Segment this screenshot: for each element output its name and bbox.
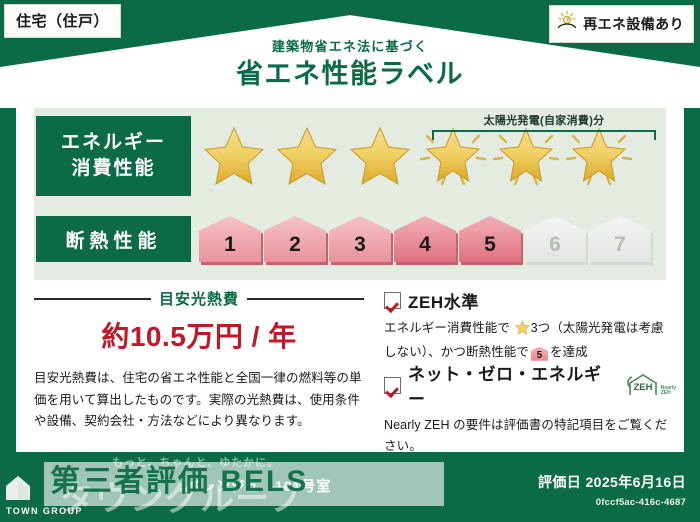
insulation-badge-5: 5 bbox=[459, 216, 521, 262]
renewable-equipment-badge: 再エネ設備あり bbox=[549, 5, 694, 43]
label-footer: ベレンジュ 101号室 評価日 2025年6月16日 0fccf5ac-416c… bbox=[0, 454, 700, 522]
star-2 bbox=[270, 116, 343, 196]
divider-left bbox=[34, 298, 151, 300]
energy-label-line2: 消費性能 bbox=[71, 156, 155, 182]
bracket-line bbox=[432, 130, 656, 140]
star-3 bbox=[343, 116, 416, 196]
insulation-badge-2: 2 bbox=[264, 216, 326, 262]
net-zero-description: Nearly ZEH の要件は評価書の特記項目をご覧ください。 bbox=[384, 415, 676, 457]
zeh-desc-part1: エネルギー消費性能で bbox=[384, 321, 510, 335]
zeh-standard-block: ZEH水準 エネルギー消費性能で 3つ（太陽光発電は考慮しない）、かつ断熱性能で… bbox=[384, 288, 676, 363]
insulation-badge-6: 6 bbox=[524, 216, 586, 262]
insulation-badge-3: 3 bbox=[329, 216, 391, 262]
sun-icon bbox=[556, 10, 578, 37]
renewable-badge-label: 再エネ設備あり bbox=[583, 14, 684, 34]
zeh-house-logo: ZEH Nearly ZEH bbox=[626, 373, 676, 397]
insulation-badge-7: 7 bbox=[589, 216, 651, 262]
checkbox-checked-icon bbox=[384, 377, 401, 394]
cost-heading: 目安光熱費 bbox=[159, 288, 239, 309]
energy-label-line1: エネルギー bbox=[61, 130, 166, 156]
cost-heading-row: 目安光熱費 bbox=[34, 288, 364, 309]
page-title: 省エネ性能ラベル bbox=[0, 61, 700, 88]
document-id: 0fccf5ac-416c-4687 bbox=[596, 497, 686, 508]
insulation-level-inline-badge: 5 bbox=[531, 347, 548, 361]
insulation-badge-4: 4 bbox=[394, 216, 456, 262]
estimated-utility-cost: 目安光熱費 約10.5万円 / 年 bbox=[34, 288, 364, 355]
svg-text:ZEH: ZEH bbox=[633, 382, 652, 393]
evaluation-date: 評価日 2025年6月16日 bbox=[538, 472, 686, 492]
zeh-standard-title-row: ZEH水準 bbox=[384, 288, 676, 313]
solar-generation-bracket: 太陽光発電(自家消費)分 bbox=[432, 112, 656, 142]
divider-right bbox=[247, 298, 364, 300]
insulation-badge-1: 1 bbox=[199, 216, 261, 262]
star-icon bbox=[515, 320, 530, 342]
zeh-logo-sub: Nearly ZEH bbox=[661, 386, 676, 398]
insulation-label: 断熱性能 bbox=[36, 216, 191, 262]
zeh-desc-part3: を達成 bbox=[550, 345, 588, 359]
solar-bracket-label: 太陽光発電(自家消費)分 bbox=[432, 112, 656, 128]
net-zero-energy-block: ネット・ゼロ・エネルギー ZEH Nearly ZEH Nearly ZEH の… bbox=[384, 360, 676, 457]
zeh-standard-description: エネルギー消費性能で 3つ（太陽光発電は考慮しない）、かつ断熱性能で5を達成 bbox=[384, 318, 676, 363]
checkbox-checked-icon bbox=[384, 292, 401, 309]
net-zero-title: ネット・ゼロ・エネルギー bbox=[408, 360, 615, 410]
star-1 bbox=[197, 116, 270, 196]
net-zero-title-row: ネット・ゼロ・エネルギー ZEH Nearly ZEH bbox=[384, 360, 676, 410]
energy-consumption-label: エネルギー 消費性能 bbox=[36, 116, 191, 196]
building-name: ベレンジュ 101号室 bbox=[186, 476, 331, 496]
cost-disclaimer-note: 目安光熱費は、住宅の省エネ性能と全国一律の燃料等の単価を用いて算出したものです。… bbox=[34, 368, 366, 433]
label-header: 建築物省エネ法に基づく 省エネ性能ラベル bbox=[0, 40, 700, 88]
insulation-badges: 1 2 3 4 5 bbox=[199, 216, 651, 262]
zeh-standard-title: ZEH水準 bbox=[408, 288, 479, 313]
insulation-row: 断熱性能 1 2 3 4 bbox=[34, 208, 651, 270]
zeh-logo-sub2: ZEH bbox=[661, 390, 671, 396]
building-type-tag: 住宅（住戸） bbox=[4, 4, 121, 38]
energy-performance-label: 住宅（住戸） 再エネ設備あり 建築物省エネ法に基づく 省エネ性能ラベル bbox=[0, 0, 700, 522]
cost-value: 約10.5万円 / 年 bbox=[34, 315, 364, 355]
